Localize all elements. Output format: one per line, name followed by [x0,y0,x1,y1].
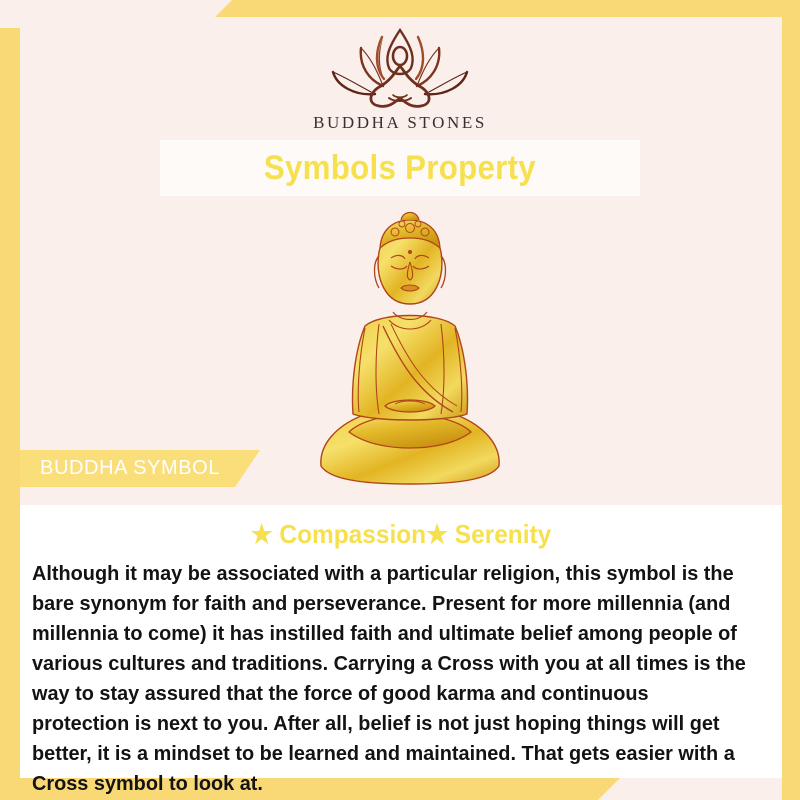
brand-header: BUDDHA STONES [0,22,800,133]
content-paragraph: Although it may be associated with a par… [32,559,748,799]
content-subheading: ★ Compassion★ Serenity [43,519,759,550]
frame-top-band [215,0,800,17]
brand-name: BUDDHA STONES [0,113,800,133]
frame-left-band [0,28,20,800]
lotus-meditation-icon [325,22,475,110]
category-ribbon-label: BUDDHA SYMBOL [40,457,220,480]
buddha-statue-image [305,200,515,495]
poster: BUDDHA STONES Symbols Property [0,0,800,800]
page-title: Symbols Property [264,149,536,188]
title-band: Symbols Property [160,140,640,196]
content-card: ★ Compassion★ Serenity Although it may b… [20,505,782,778]
category-ribbon: BUDDHA SYMBOL [20,450,260,487]
